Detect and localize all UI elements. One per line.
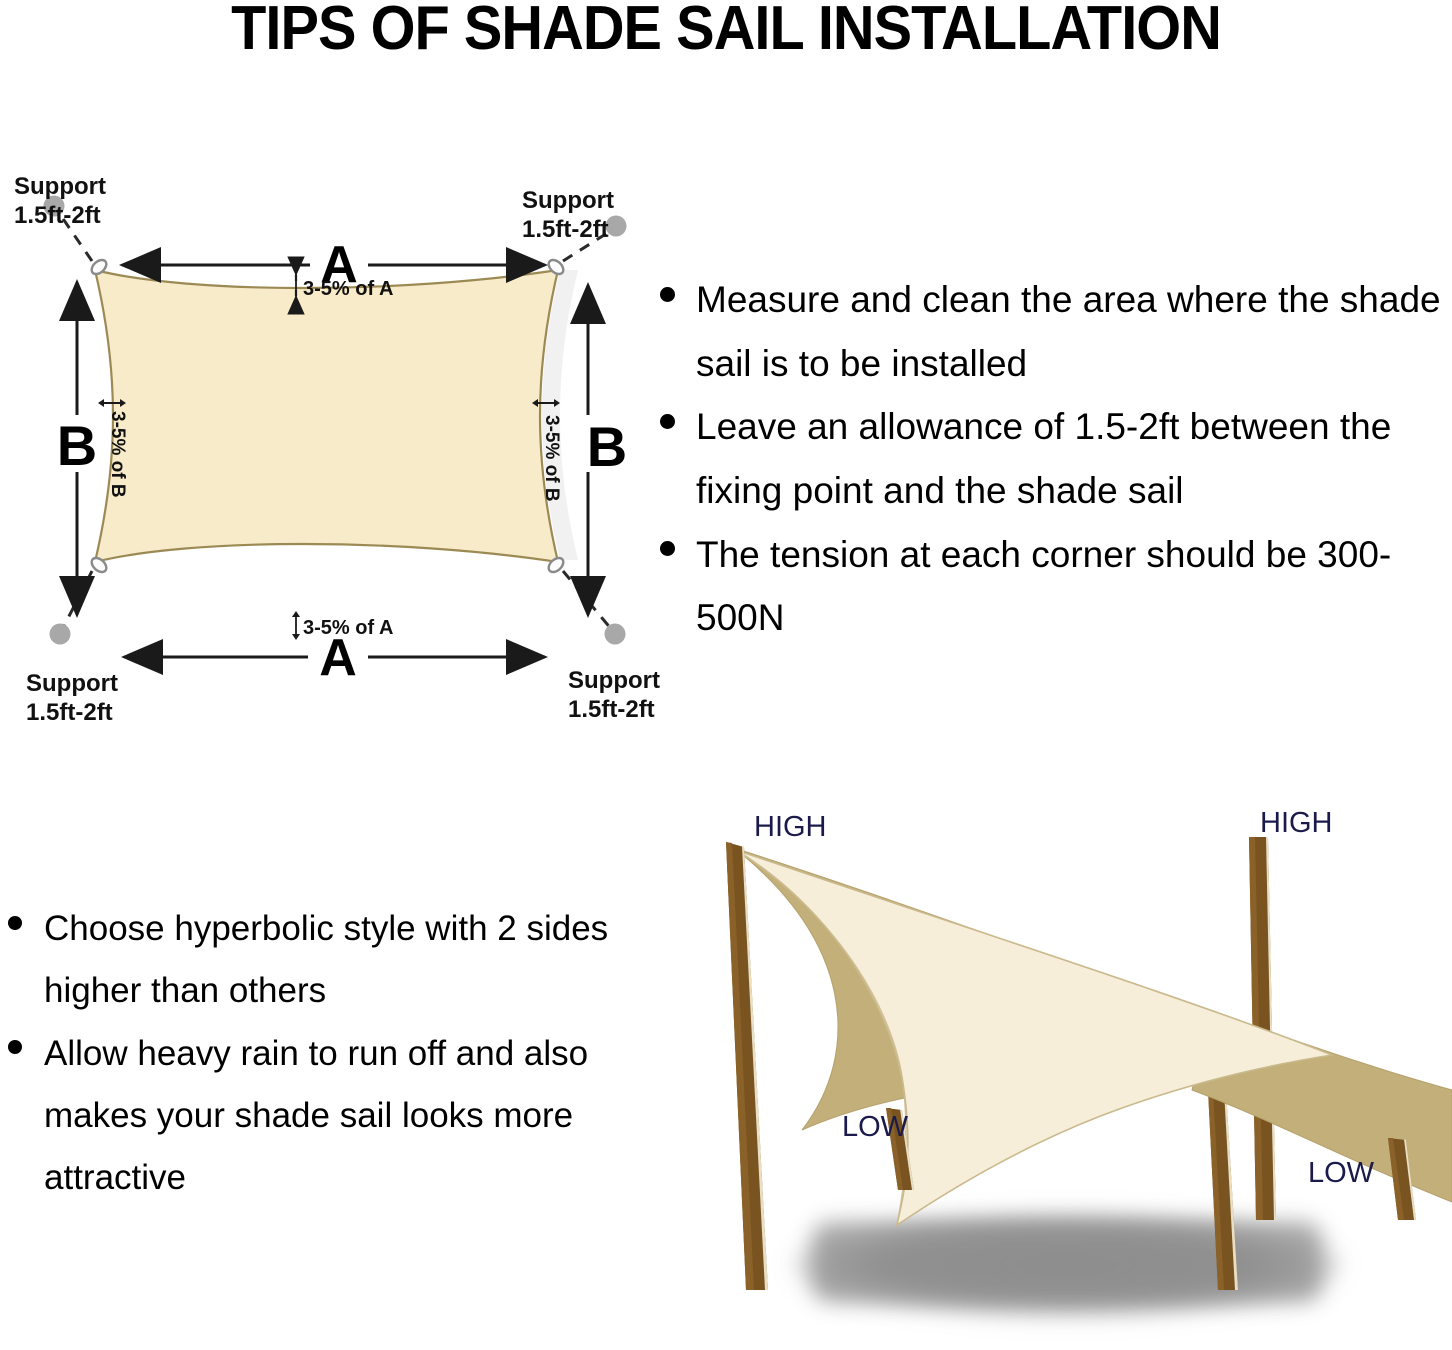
- svg-text:Support: Support: [26, 670, 118, 697]
- support-label-bottom-left: Support 1.5ft-2ft: [26, 670, 118, 726]
- svg-text:Support: Support: [522, 187, 614, 214]
- bullet-dot-icon: [660, 414, 675, 429]
- sail-front-cream: [736, 850, 1332, 1225]
- support-label-top-right: Support 1.5ft-2ft: [522, 187, 614, 243]
- tip-text: Choose hyperbolic style with 2 sides hig…: [44, 898, 620, 1023]
- top-tips-list: Measure and clean the area where the sha…: [648, 268, 1452, 650]
- tip-text: The tension at each corner should be 300…: [696, 523, 1452, 650]
- bullet-dot-icon: [8, 1040, 22, 1054]
- svg-text:1.5ft-2ft: 1.5ft-2ft: [14, 202, 101, 229]
- tip-text: Leave an allowance of 1.5-2ft between th…: [696, 395, 1452, 522]
- bottom-tips-list: Choose hyperbolic style with 2 sides hig…: [0, 898, 620, 1209]
- list-item: Allow heavy rain to run off and also mak…: [0, 1023, 620, 1210]
- list-item: Leave an allowance of 1.5-2ft between th…: [648, 395, 1452, 522]
- bullet-dot-icon: [660, 287, 675, 302]
- support-label-bottom-right: Support 1.5ft-2ft: [568, 667, 660, 723]
- curve-label-b-right: 3-5% of B: [541, 415, 562, 502]
- shade-sail-fabric: [95, 270, 558, 562]
- bullet-dot-icon: [8, 916, 22, 930]
- tip-text: Allow heavy rain to run off and also mak…: [44, 1023, 620, 1210]
- infographic-page: TIPS OF SHADE SAIL INSTALLATION: [0, 0, 1452, 1325]
- svg-text:1.5ft-2ft: 1.5ft-2ft: [26, 699, 113, 726]
- dimension-label-b-left: B: [57, 414, 97, 477]
- svg-text:1.5ft-2ft: 1.5ft-2ft: [568, 696, 655, 723]
- post-left-high: [726, 842, 768, 1290]
- curve-callout-a-bottom: [292, 611, 300, 640]
- page-title: TIPS OF SHADE SAIL INSTALLATION: [51, 0, 1401, 61]
- svg-text:1.5ft-2ft: 1.5ft-2ft: [522, 216, 609, 243]
- ground-shadow: [792, 1213, 1342, 1317]
- list-item: Choose hyperbolic style with 2 sides hig…: [0, 898, 620, 1023]
- svg-text:Support: Support: [568, 667, 660, 694]
- list-item: The tension at each corner should be 300…: [648, 523, 1452, 650]
- tip-text: Measure and clean the area where the sha…: [696, 268, 1452, 395]
- curve-label-a-top: 3-5% of A: [303, 278, 393, 300]
- curve-label-b-left: 3-5% of B: [107, 411, 128, 498]
- label-low-right: LOW: [1308, 1157, 1375, 1189]
- dimension-label-b-right: B: [587, 415, 627, 478]
- label-high-right: HIGH: [1260, 807, 1333, 839]
- svg-text:Support: Support: [14, 173, 106, 200]
- label-low-left: LOW: [842, 1111, 909, 1143]
- bullet-dot-icon: [660, 541, 675, 556]
- curve-label-a-bottom: 3-5% of A: [303, 617, 393, 639]
- list-item: Measure and clean the area where the sha…: [648, 268, 1452, 395]
- label-high-left: HIGH: [754, 811, 827, 843]
